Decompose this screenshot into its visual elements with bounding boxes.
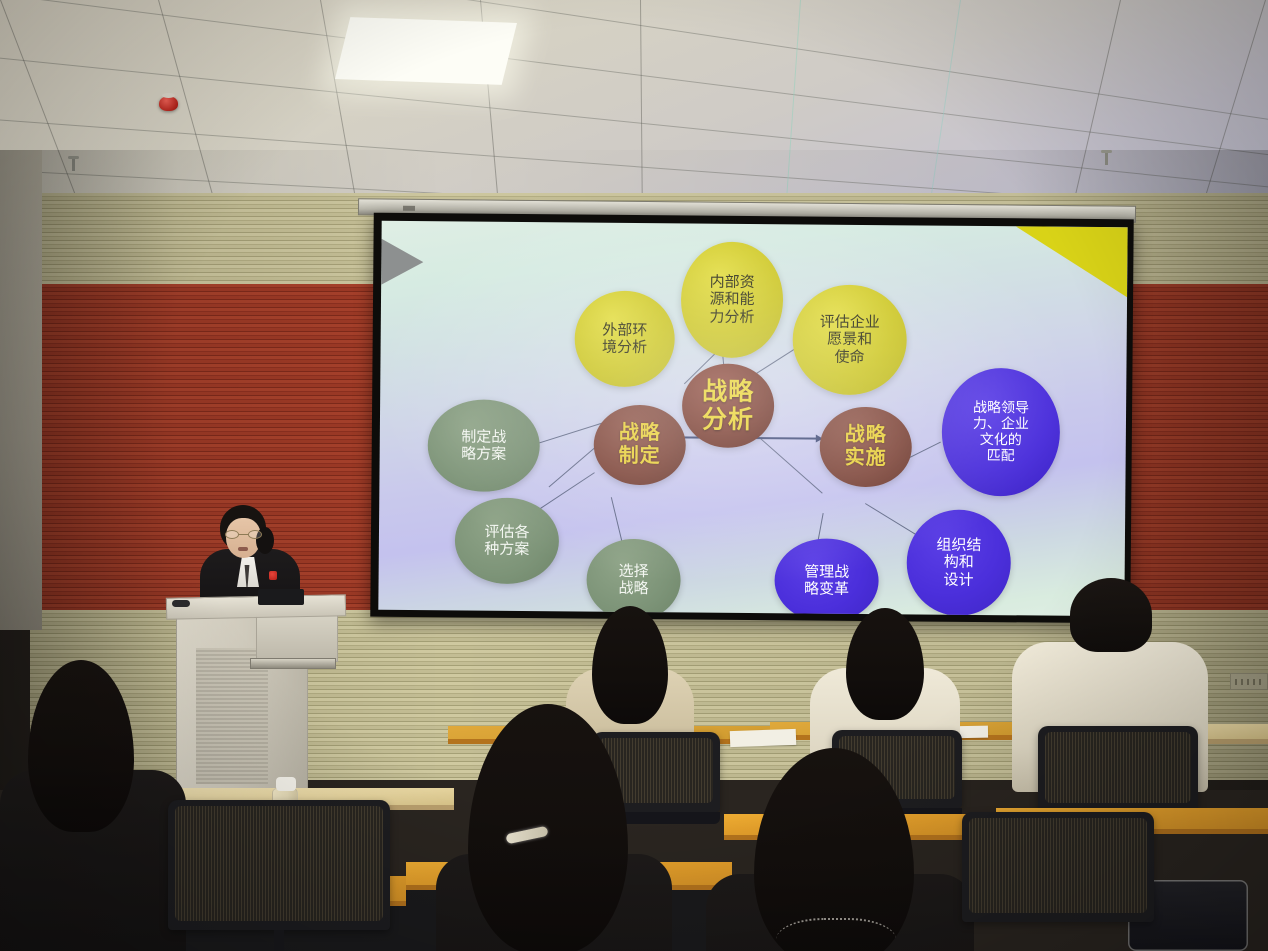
ceiling <box>0 0 1268 215</box>
sprinkler-icon <box>1105 152 1108 165</box>
slide-node-external-env: 外部环 境分析 <box>574 290 675 387</box>
slide-node-vision-mission: 评估企业 愿景和 使命 <box>792 284 907 395</box>
mouse-on-podium <box>172 600 190 607</box>
wall-left-return <box>0 150 42 630</box>
slide-hub-strategy-implementation: 战略 实施 <box>819 407 912 488</box>
slide-node-evaluate-options: 评估各 种方案 <box>455 497 560 584</box>
slide-node-internal-resources: 内部资 源和能 力分析 <box>681 241 784 358</box>
presenter-badge <box>269 571 277 580</box>
smoke-detector-icon <box>159 96 178 111</box>
slide-node-make-strategy-plan: 制定战 略方案 <box>427 399 540 492</box>
podium-top-surface <box>166 594 346 619</box>
podium-keyboard-tray <box>250 658 336 669</box>
slide-corner-gray-arrow-icon <box>381 239 423 285</box>
slide-node-org-structure: 组织结 构和 设计 <box>906 509 1011 616</box>
classroom-scene: Classroom presentation — strategy mind m… <box>0 0 1268 951</box>
papers-on-desk <box>730 729 797 747</box>
projector-screen: 外部环 境分析 内部资 源和能 力分析 评估企业 愿景和 使命 <box>370 213 1133 624</box>
slide-canvas: 外部环 境分析 内部资 源和能 力分析 评估企业 愿景和 使命 <box>378 221 1127 616</box>
laptop-on-podium <box>258 589 304 605</box>
slide-node-leadership-culture: 战略领导 力、企业 文化的 匹配 <box>941 368 1060 497</box>
slide-node-manage-change: 管理战 略变革 <box>774 538 879 616</box>
slide-hub-strategy-formulation: 战略 制定 <box>593 405 686 486</box>
wall-outlet-plate <box>1230 673 1268 690</box>
sprinkler-icon <box>72 158 75 171</box>
chair <box>1038 726 1198 812</box>
glasses-icon <box>225 530 262 539</box>
chair <box>962 812 1154 922</box>
chair <box>168 800 390 930</box>
slide-corner-yellow-triangle <box>1015 226 1128 297</box>
ceiling-light-panel <box>335 17 517 85</box>
slide-hub-strategy-analysis: 战略 分析 <box>682 363 775 448</box>
slide-node-select-strategy: 选择 战略 <box>586 539 681 617</box>
